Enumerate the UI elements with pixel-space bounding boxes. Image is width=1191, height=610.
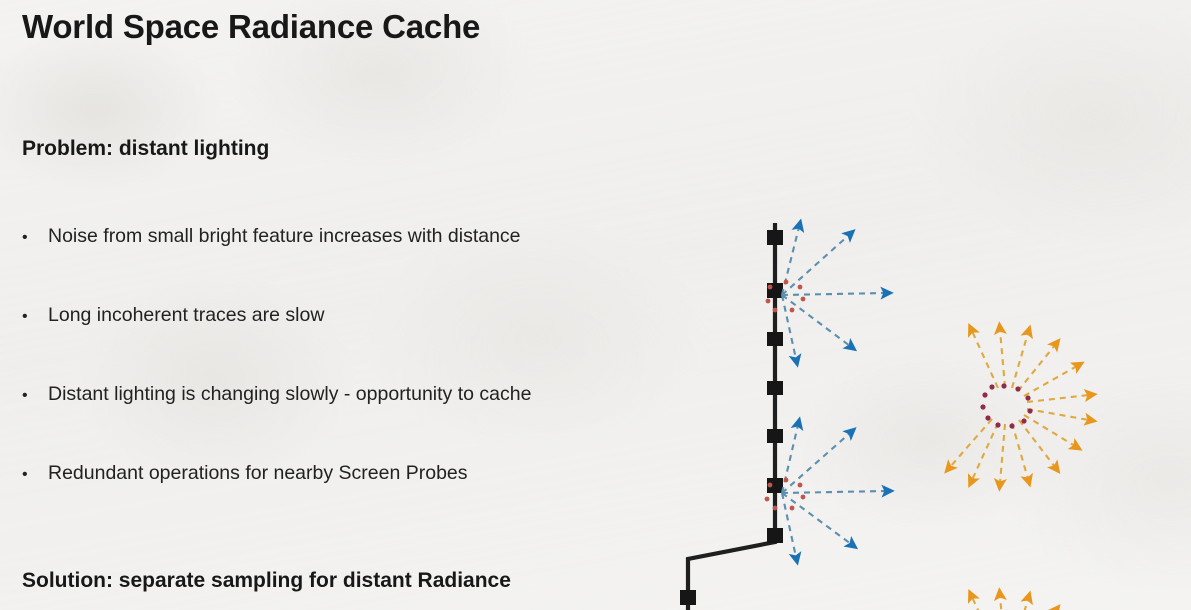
screen-ray — [782, 293, 885, 295]
bullet-marker: • — [22, 309, 48, 325]
screen-probe-marker — [767, 230, 783, 245]
problem-heading: Problem: distant lighting — [22, 137, 1191, 161]
screen-ray — [782, 433, 850, 493]
world-ray — [972, 597, 998, 610]
world-ray — [1027, 395, 1089, 402]
world-ray — [1027, 409, 1089, 420]
bullet-marker: • — [22, 467, 48, 483]
world-ray — [1019, 420, 1055, 467]
world-ray — [950, 419, 992, 467]
screen-ray — [782, 227, 799, 295]
world-ray — [1012, 599, 1028, 610]
world-ray — [1000, 596, 1005, 610]
screen-probe-marker — [767, 528, 783, 543]
diagram-svg — [600, 215, 1191, 610]
slide-canvas: World Space Radiance Cache Problem: dist… — [0, 0, 1191, 610]
screen-probe-marker — [767, 381, 783, 395]
screen-probe-marker — [680, 590, 696, 605]
screen-ray — [782, 235, 849, 295]
page-title: World Space Radiance Cache — [22, 8, 1191, 46]
list-item-label: Noise from small bright feature increase… — [48, 226, 521, 247]
world-ray — [1012, 423, 1028, 479]
world-ray — [1024, 366, 1077, 396]
screen-radiance-fan — [766, 227, 885, 359]
world-ray — [1000, 330, 1005, 387]
list-item-label: Long incoherent traces are slow — [48, 305, 324, 326]
bullet-marker: • — [22, 230, 48, 246]
list-item-label: Redundant operations for nearby Screen P… — [48, 463, 468, 484]
world-ray — [1024, 415, 1075, 446]
screen-probe-marker — [767, 429, 783, 443]
world-radiance-fan — [950, 330, 1089, 483]
world-radiance-fan — [950, 596, 1089, 610]
screen-ray — [782, 425, 798, 493]
world-ray — [972, 423, 998, 480]
screen-ray — [782, 491, 886, 493]
world-ray — [1012, 333, 1028, 388]
wall-geometry — [688, 223, 775, 610]
world-ray — [1000, 424, 1005, 483]
screen-probe-marker — [767, 332, 783, 346]
list-item-label: Distant lighting is changing slowly - op… — [48, 384, 531, 405]
radiance-cache-diagram — [600, 215, 1191, 610]
world-ray — [972, 331, 998, 388]
bullet-marker: • — [22, 388, 48, 404]
